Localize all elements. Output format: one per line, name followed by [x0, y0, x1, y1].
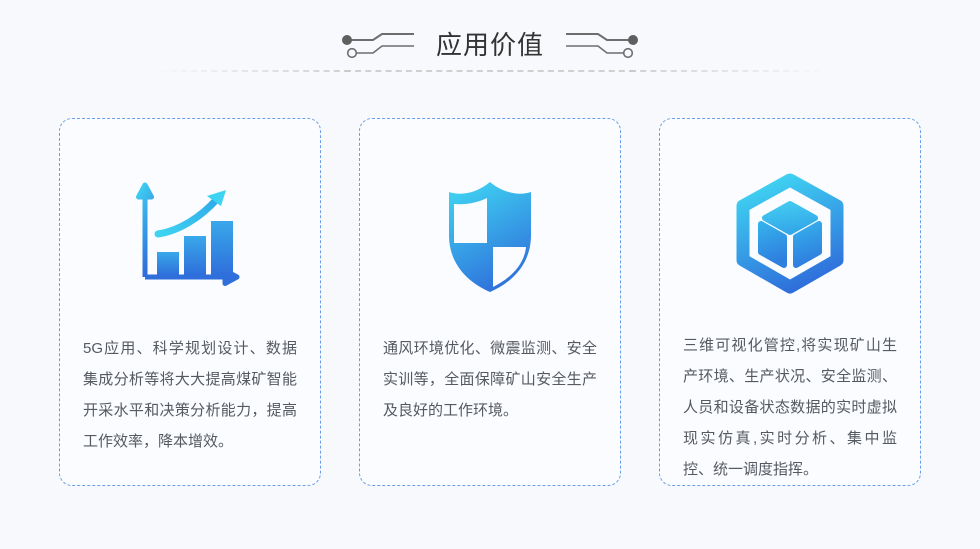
page-header: 应用价值 — [0, 0, 980, 100]
page-title-group: 应用价值 — [0, 28, 980, 62]
card-icon-wrapper — [427, 161, 553, 311]
card-icon-wrapper — [727, 161, 853, 308]
circuit-trace-right-icon — [564, 31, 640, 59]
card-description: 三维可视化管控,将实现矿山生产环境、生产状况、安全监测、人员和设备状态数据的实时… — [683, 330, 897, 485]
card-description: 通风环境优化、微震监测、安全实训等，全面保障矿山安全生产及良好的工作环境。 — [383, 333, 597, 426]
header-divider-right — [630, 70, 830, 72]
circuit-trace-left-icon — [340, 31, 416, 59]
header-divider-left — [150, 70, 350, 72]
value-card-visualization[interactable]: 三维可视化管控,将实现矿山生产环境、生产状况、安全监测、人员和设备状态数据的实时… — [659, 118, 921, 486]
value-card-analytics[interactable]: 5G应用、科学规划设计、数据集成分析等将大大提高煤矿智能开采水平和决策分析能力，… — [59, 118, 321, 486]
value-card-safety[interactable]: 通风环境优化、微震监测、安全实训等，全面保障矿山安全生产及良好的工作环境。 — [359, 118, 621, 486]
shield-security-icon — [427, 173, 553, 299]
page-title: 应用价值 — [430, 28, 550, 62]
hexagon-cube-3d-icon — [727, 172, 853, 298]
bar-chart-growth-icon — [127, 173, 253, 299]
card-description: 5G应用、科学规划设计、数据集成分析等将大大提高煤矿智能开采水平和决策分析能力，… — [83, 333, 297, 457]
header-divider-middle — [345, 70, 635, 72]
card-icon-wrapper — [127, 161, 253, 311]
value-cards-container: 5G应用、科学规划设计、数据集成分析等将大大提高煤矿智能开采水平和决策分析能力，… — [59, 118, 921, 486]
